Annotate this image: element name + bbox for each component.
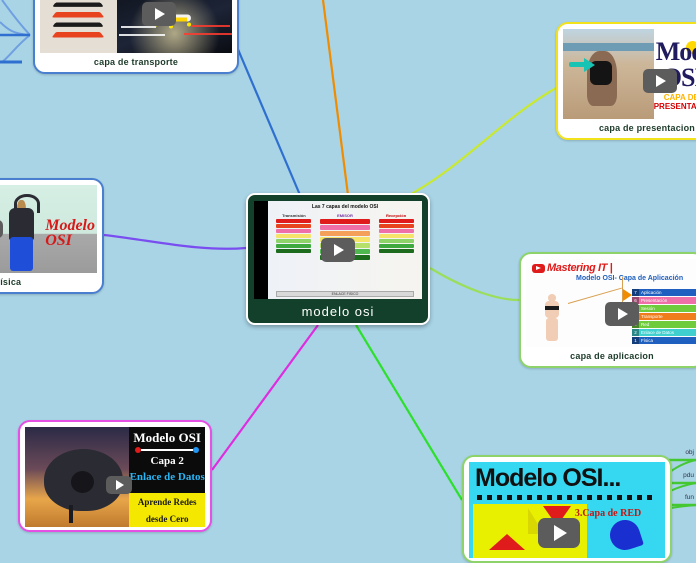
presentacion-photo xyxy=(563,29,654,119)
node-capa-fisica[interactable]: Modelo OSI capa física xyxy=(0,178,104,294)
connector-to-presentacion xyxy=(323,0,348,195)
play-icon[interactable] xyxy=(643,69,677,93)
fisica-thumb-text: Modelo OSI xyxy=(45,218,95,248)
red-thumb-title: Modelo OSI... xyxy=(475,464,620,493)
enlace-tagline-line1: Aprende Redes xyxy=(129,493,205,510)
enlace-panel-name: Enlace de Datos xyxy=(129,471,205,483)
node-capa-de-red[interactable]: Modelo OSI... 3.Capa de RED xyxy=(462,455,672,563)
node-capa-enlace-de-datos[interactable]: Modelo OSI Capa 2 Enlace de Datos Aprend… xyxy=(18,420,212,532)
connector-to-fisica xyxy=(104,235,246,249)
layer-number: 7 xyxy=(632,289,639,296)
list-item: 1 Física xyxy=(632,337,696,344)
play-icon[interactable] xyxy=(538,518,580,548)
presentacion-sub-line1: CAPA DE xyxy=(664,93,696,102)
layers-icon xyxy=(40,0,117,53)
layer-name: Presentación xyxy=(639,297,696,304)
transporte-caption: capa de transporte xyxy=(40,53,232,69)
aplicacion-thumbnail[interactable]: Mastering IT | Modelo OSI- Capa de Aplic… xyxy=(526,259,696,347)
connector-to-transporte xyxy=(237,47,300,195)
osi-slide-heading: Las 7 capas del modelo OSI xyxy=(268,201,422,210)
layer-number: 2 xyxy=(632,329,639,336)
red-thumb-subtitle: 3.Capa de RED xyxy=(575,508,641,519)
list-item: 4 Transporte xyxy=(632,313,696,320)
enlace-thumbnail[interactable]: Modelo OSI Capa 2 Enlace de Datos Aprend… xyxy=(25,427,205,527)
play-icon[interactable] xyxy=(605,302,639,326)
osi-column-recepcion: Recepción xyxy=(379,213,414,289)
center-node-thumbnail[interactable]: Las 7 capas del modelo OSI Transmisión E… xyxy=(254,201,422,299)
layer-number: 1 xyxy=(632,337,639,344)
list-item: 5 Sesión xyxy=(632,305,696,312)
aplicacion-channel: Mastering IT | xyxy=(532,262,612,274)
play-icon[interactable] xyxy=(142,2,176,26)
aplicacion-subtitle: Modelo OSI- Capa de Aplicación xyxy=(576,275,683,282)
node-capa-de-aplicacion[interactable]: Mastering IT | Modelo OSI- Capa de Aplic… xyxy=(519,252,696,368)
fisica-caption: capa física xyxy=(0,273,97,289)
fisica-photo xyxy=(4,190,47,271)
play-icon[interactable] xyxy=(0,220,3,238)
osi-label-emisor: EMISOR xyxy=(320,213,370,218)
orange-arrow-icon xyxy=(623,289,632,301)
layer-name: Red xyxy=(639,321,696,328)
layer-name: Sesión xyxy=(639,305,696,312)
subbranch-curve-left-2 xyxy=(0,22,30,35)
red-thumbnail[interactable]: Modelo OSI... 3.Capa de RED xyxy=(469,462,665,558)
node-capa-de-presentacion[interactable]: Modelo OSI CAPA DE PRESENTACIÓN capa de … xyxy=(556,22,696,140)
fisica-title-line2: OSI xyxy=(45,233,95,248)
subbranch-curve-left-1 xyxy=(2,0,30,35)
aplicacion-photo xyxy=(534,293,570,343)
connector-to-aplicacion xyxy=(430,268,519,300)
aplicacion-caption: capa de aplicacion xyxy=(526,347,696,363)
subbranch-label-obj[interactable]: obj xyxy=(685,449,694,456)
center-node-modelo-osi[interactable]: Las 7 capas del modelo OSI Transmisión E… xyxy=(246,193,430,325)
play-icon[interactable] xyxy=(106,476,132,494)
center-node-title: modelo osi xyxy=(254,299,422,319)
satellite-icon xyxy=(610,520,640,550)
list-item: 7 Aplicación xyxy=(632,289,696,296)
list-item: 2 Enlace de Datos xyxy=(632,329,696,336)
youtube-icon xyxy=(532,264,545,273)
fisica-title-line1: Modelo xyxy=(45,218,95,233)
enlace-panel-layer: Capa 2 xyxy=(129,455,205,467)
connector-to-enlace xyxy=(212,325,318,470)
aplicacion-channel-name: Mastering IT | xyxy=(547,262,612,274)
fisica-thumbnail[interactable]: Modelo OSI xyxy=(0,185,97,273)
enlace-thumb-panel: Modelo OSI Capa 2 Enlace de Datos Aprend… xyxy=(129,427,205,527)
osi-label-transmision: Transmisión xyxy=(276,213,311,218)
subbranch-curve-left-3 xyxy=(2,35,30,62)
arrow-right-icon xyxy=(569,57,595,71)
list-item: 3 Red xyxy=(632,321,696,328)
connector-to-red xyxy=(356,325,462,500)
presentacion-sub-line2: PRESENTACIÓN xyxy=(654,102,696,111)
transporte-thumbnail[interactable]: Capa de Transporte xyxy=(40,0,232,53)
presentacion-thumbnail[interactable]: Modelo OSI CAPA DE PRESENTACIÓN xyxy=(563,29,696,119)
subbranch-label-fun[interactable]: fun xyxy=(685,494,694,501)
layer-name: Aplicación xyxy=(639,289,696,296)
subbranch-label-pdu[interactable]: pdu xyxy=(683,472,694,479)
connector-to-presentacion-alt xyxy=(400,88,556,200)
list-item: 6 Presentación xyxy=(632,297,696,304)
play-icon[interactable] xyxy=(321,238,355,262)
layer-name: Física xyxy=(639,337,696,344)
enlace-tagline-line2: desde Cero xyxy=(129,510,205,527)
presentacion-caption: capa de presentacion xyxy=(563,119,696,135)
layer-name: Transporte xyxy=(639,313,696,320)
enlace-panel-title: Modelo OSI xyxy=(129,430,205,446)
osi-bottom-bar: ENLACE FISICO xyxy=(276,291,414,297)
node-capa-de-transporte[interactable]: Capa de Transporte capa de transporte xyxy=(33,0,239,74)
osi-label-recepcion: Recepción xyxy=(379,213,414,218)
osi-column-transmision: Transmisión xyxy=(276,213,311,289)
osi-layer-list: 7 Aplicación 6 Presentación 5 Sesión 4 T… xyxy=(632,289,696,344)
layer-name: Enlace de Datos xyxy=(639,329,696,336)
